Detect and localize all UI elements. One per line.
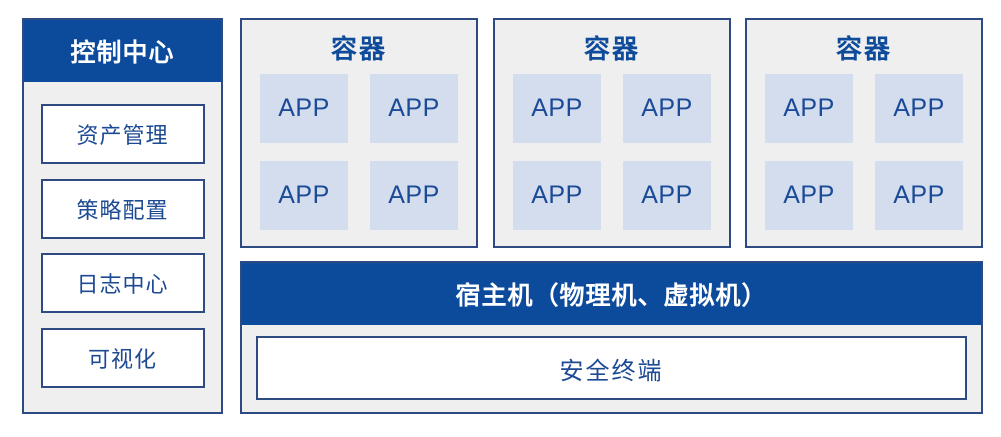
control-center-panel: 控制中心 资产管理 策略配置 日志中心 可视化	[22, 18, 223, 414]
app-label: APP	[783, 181, 835, 210]
app-box[interactable]: APP	[765, 161, 853, 230]
sidebar-item-label: 策略配置	[76, 193, 168, 225]
control-center-item-list: 资产管理 策略配置 日志中心 可视化	[24, 82, 221, 412]
app-label: APP	[641, 94, 693, 123]
app-box[interactable]: APP	[260, 74, 348, 143]
app-grid: APP APP APP APP	[495, 68, 729, 246]
app-box[interactable]: APP	[623, 74, 711, 143]
host-machine-title: 宿主机（物理机、虚拟机）	[242, 263, 981, 325]
app-label: APP	[531, 181, 583, 210]
app-label: APP	[641, 181, 693, 210]
security-endpoint-box[interactable]: 安全终端	[256, 336, 967, 400]
app-box[interactable]: APP	[370, 74, 458, 143]
app-label: APP	[893, 181, 945, 210]
host-machine-body: 安全终端	[242, 325, 981, 412]
app-grid: APP APP APP APP	[747, 68, 981, 246]
sidebar-item-label: 日志中心	[76, 267, 168, 299]
container-title: 容器	[584, 36, 640, 62]
host-machine-panel: 宿主机（物理机、虚拟机） 安全终端	[240, 261, 983, 414]
app-box[interactable]: APP	[623, 161, 711, 230]
sidebar-item-policy-configuration[interactable]: 策略配置	[41, 179, 205, 239]
app-label: APP	[388, 94, 440, 123]
security-endpoint-label: 安全终端	[560, 351, 664, 386]
sidebar-item-log-center[interactable]: 日志中心	[41, 253, 205, 313]
app-label: APP	[893, 94, 945, 123]
container-title: 容器	[331, 36, 387, 62]
app-box[interactable]: APP	[370, 161, 458, 230]
app-box[interactable]: APP	[875, 74, 963, 143]
app-label: APP	[278, 181, 330, 210]
app-label: APP	[783, 94, 835, 123]
app-label: APP	[388, 181, 440, 210]
container-panel: 容器 APP APP APP APP	[745, 18, 983, 248]
app-label: APP	[278, 94, 330, 123]
container-panel: 容器 APP APP APP APP	[493, 18, 731, 248]
app-box[interactable]: APP	[765, 74, 853, 143]
sidebar-item-label: 资产管理	[76, 118, 168, 150]
control-center-title: 控制中心	[24, 20, 221, 82]
app-label: APP	[531, 94, 583, 123]
app-box[interactable]: APP	[875, 161, 963, 230]
sidebar-item-asset-management[interactable]: 资产管理	[41, 104, 205, 164]
app-grid: APP APP APP APP	[242, 68, 476, 246]
container-panel: 容器 APP APP APP APP	[240, 18, 478, 248]
app-box[interactable]: APP	[513, 161, 601, 230]
container-title: 容器	[836, 36, 892, 62]
app-box[interactable]: APP	[260, 161, 348, 230]
app-box[interactable]: APP	[513, 74, 601, 143]
sidebar-item-label: 可视化	[88, 342, 157, 374]
sidebar-item-visualization[interactable]: 可视化	[41, 328, 205, 388]
